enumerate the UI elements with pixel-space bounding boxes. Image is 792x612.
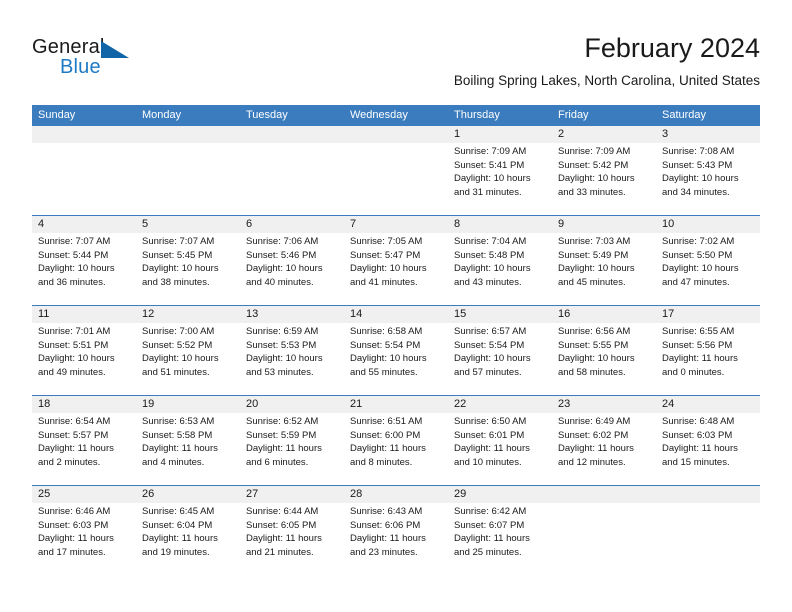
daylight-text: Daylight: 11 hours [662,352,754,366]
day-number: 1 [448,126,552,143]
daylight-text: Daylight: 10 hours [662,262,754,276]
day-number: 17 [656,306,760,323]
day-number [240,126,344,143]
daylight-text: Daylight: 10 hours [142,352,234,366]
daylight-text: Daylight: 10 hours [662,172,754,186]
daylight-text: Daylight: 11 hours [142,442,234,456]
sunset-text: Sunset: 5:56 PM [662,339,754,353]
day-number: 28 [344,486,448,503]
day-cell: Sunrise: 6:46 AM Sunset: 6:03 PM Dayligh… [32,503,136,575]
sunset-text: Sunset: 6:03 PM [38,519,130,533]
sunset-text: Sunset: 5:57 PM [38,429,130,443]
day-cell: Sunrise: 7:07 AM Sunset: 5:44 PM Dayligh… [32,233,136,305]
calendar-week-row: 4 5 6 7 8 9 10 Sunrise: 7:07 AM Sunset: … [32,215,760,305]
day-cell: Sunrise: 6:44 AM Sunset: 6:05 PM Dayligh… [240,503,344,575]
sunset-text: Sunset: 5:49 PM [558,249,650,263]
sunrise-text: Sunrise: 6:42 AM [454,505,546,519]
day-number: 25 [32,486,136,503]
sunset-text: Sunset: 5:54 PM [350,339,442,353]
day-number [552,486,656,503]
daylight-text-cont: and 25 minutes. [454,546,546,560]
sunset-text: Sunset: 5:45 PM [142,249,234,263]
weekday-header-friday: Friday [552,105,656,125]
daylight-text: Daylight: 10 hours [142,262,234,276]
day-number: 27 [240,486,344,503]
daylight-text-cont: and 0 minutes. [662,366,754,380]
page-title: February 2024 [454,32,760,64]
sunrise-text: Sunrise: 7:08 AM [662,145,754,159]
sunrise-text: Sunrise: 6:44 AM [246,505,338,519]
sunrise-text: Sunrise: 7:04 AM [454,235,546,249]
sunrise-text: Sunrise: 7:05 AM [350,235,442,249]
sunset-text: Sunset: 6:04 PM [142,519,234,533]
sunset-text: Sunset: 5:44 PM [38,249,130,263]
day-cell: Sunrise: 6:45 AM Sunset: 6:04 PM Dayligh… [136,503,240,575]
calendar-week-row: 25 26 27 28 29 Sunrise: 6:46 AM Sunset: … [32,485,760,575]
weekday-header-tuesday: Tuesday [240,105,344,125]
daylight-text-cont: and 19 minutes. [142,546,234,560]
day-cell: Sunrise: 6:58 AM Sunset: 5:54 PM Dayligh… [344,323,448,395]
daylight-text-cont: and 38 minutes. [142,276,234,290]
daylight-text: Daylight: 10 hours [350,352,442,366]
daylight-text: Daylight: 10 hours [454,172,546,186]
daylight-text: Daylight: 10 hours [558,262,650,276]
day-number: 23 [552,396,656,413]
day-number: 5 [136,216,240,233]
sunrise-text: Sunrise: 6:50 AM [454,415,546,429]
sunrise-text: Sunrise: 6:58 AM [350,325,442,339]
day-cell: Sunrise: 7:01 AM Sunset: 5:51 PM Dayligh… [32,323,136,395]
day-number: 12 [136,306,240,323]
day-cell: Sunrise: 7:06 AM Sunset: 5:46 PM Dayligh… [240,233,344,305]
week-day-cells: Sunrise: 7:09 AM Sunset: 5:41 PM Dayligh… [32,143,760,215]
daylight-text: Daylight: 11 hours [246,532,338,546]
day-number: 29 [448,486,552,503]
sunset-text: Sunset: 5:42 PM [558,159,650,173]
daylight-text: Daylight: 11 hours [350,532,442,546]
day-number: 19 [136,396,240,413]
day-number: 4 [32,216,136,233]
daylight-text-cont: and 15 minutes. [662,456,754,470]
day-cell: Sunrise: 7:03 AM Sunset: 5:49 PM Dayligh… [552,233,656,305]
daylight-text-cont: and 23 minutes. [350,546,442,560]
daylight-text: Daylight: 11 hours [558,442,650,456]
week-date-numbers: 1 2 3 [32,126,760,143]
daylight-text-cont: and 12 minutes. [558,456,650,470]
sunrise-text: Sunrise: 6:45 AM [142,505,234,519]
sunset-text: Sunset: 5:48 PM [454,249,546,263]
week-date-numbers: 18 19 20 21 22 23 24 [32,396,760,413]
logo-text-blue: Blue [60,56,101,79]
day-number: 13 [240,306,344,323]
sunrise-text: Sunrise: 7:00 AM [142,325,234,339]
daylight-text: Daylight: 10 hours [246,262,338,276]
week-day-cells: Sunrise: 6:46 AM Sunset: 6:03 PM Dayligh… [32,503,760,575]
sunrise-text: Sunrise: 6:59 AM [246,325,338,339]
sunrise-text: Sunrise: 7:06 AM [246,235,338,249]
weekday-header-saturday: Saturday [656,105,760,125]
daylight-text-cont: and 31 minutes. [454,186,546,200]
daylight-text-cont: and 6 minutes. [246,456,338,470]
day-cell: Sunrise: 7:04 AM Sunset: 5:48 PM Dayligh… [448,233,552,305]
day-cell: Sunrise: 7:08 AM Sunset: 5:43 PM Dayligh… [656,143,760,215]
sunrise-text: Sunrise: 7:07 AM [142,235,234,249]
day-number [344,126,448,143]
day-number: 2 [552,126,656,143]
sunrise-text: Sunrise: 7:03 AM [558,235,650,249]
daylight-text-cont: and 57 minutes. [454,366,546,380]
sunset-text: Sunset: 5:58 PM [142,429,234,443]
day-number: 14 [344,306,448,323]
daylight-text-cont: and 36 minutes. [38,276,130,290]
day-cell: Sunrise: 6:54 AM Sunset: 5:57 PM Dayligh… [32,413,136,485]
day-cell: Sunrise: 6:51 AM Sunset: 6:00 PM Dayligh… [344,413,448,485]
general-blue-logo[interactable]: General Blue [32,36,162,84]
sunrise-text: Sunrise: 6:53 AM [142,415,234,429]
daylight-text-cont: and 33 minutes. [558,186,650,200]
day-cell: Sunrise: 6:55 AM Sunset: 5:56 PM Dayligh… [656,323,760,395]
sunrise-text: Sunrise: 6:56 AM [558,325,650,339]
day-number: 20 [240,396,344,413]
sunrise-text: Sunrise: 6:46 AM [38,505,130,519]
sunset-text: Sunset: 5:52 PM [142,339,234,353]
week-date-numbers: 4 5 6 7 8 9 10 [32,216,760,233]
logo-triangle-icon [101,41,129,58]
day-cell: Sunrise: 6:48 AM Sunset: 6:03 PM Dayligh… [656,413,760,485]
daylight-text-cont: and 34 minutes. [662,186,754,200]
daylight-text-cont: and 51 minutes. [142,366,234,380]
weekday-header-thursday: Thursday [448,105,552,125]
day-cell: Sunrise: 7:05 AM Sunset: 5:47 PM Dayligh… [344,233,448,305]
day-cell: Sunrise: 6:59 AM Sunset: 5:53 PM Dayligh… [240,323,344,395]
day-number: 3 [656,126,760,143]
sunset-text: Sunset: 6:05 PM [246,519,338,533]
sunrise-text: Sunrise: 7:09 AM [558,145,650,159]
page-subtitle: Boiling Spring Lakes, North Carolina, Un… [454,72,760,89]
sunrise-text: Sunrise: 6:57 AM [454,325,546,339]
day-cell: Sunrise: 7:09 AM Sunset: 5:41 PM Dayligh… [448,143,552,215]
week-day-cells: Sunrise: 6:54 AM Sunset: 5:57 PM Dayligh… [32,413,760,485]
sunrise-text: Sunrise: 7:07 AM [38,235,130,249]
daylight-text: Daylight: 11 hours [142,532,234,546]
daylight-text: Daylight: 10 hours [38,262,130,276]
sunset-text: Sunset: 6:02 PM [558,429,650,443]
sunset-text: Sunset: 6:06 PM [350,519,442,533]
day-cell: Sunrise: 6:49 AM Sunset: 6:02 PM Dayligh… [552,413,656,485]
sunset-text: Sunset: 5:46 PM [246,249,338,263]
daylight-text: Daylight: 11 hours [246,442,338,456]
daylight-text: Daylight: 10 hours [454,352,546,366]
daylight-text: Daylight: 11 hours [454,442,546,456]
daylight-text: Daylight: 10 hours [246,352,338,366]
sunset-text: Sunset: 5:53 PM [246,339,338,353]
week-day-cells: Sunrise: 7:07 AM Sunset: 5:44 PM Dayligh… [32,233,760,305]
day-number [136,126,240,143]
sunset-text: Sunset: 5:51 PM [38,339,130,353]
day-cell: Sunrise: 7:07 AM Sunset: 5:45 PM Dayligh… [136,233,240,305]
daylight-text: Daylight: 10 hours [454,262,546,276]
day-number: 21 [344,396,448,413]
sunrise-text: Sunrise: 7:09 AM [454,145,546,159]
sunset-text: Sunset: 5:43 PM [662,159,754,173]
weekday-header-sunday: Sunday [32,105,136,125]
weekday-header-row: Sunday Monday Tuesday Wednesday Thursday… [32,105,760,125]
day-number: 11 [32,306,136,323]
daylight-text-cont: and 17 minutes. [38,546,130,560]
daylight-text: Daylight: 11 hours [454,532,546,546]
day-cell: Sunrise: 6:53 AM Sunset: 5:58 PM Dayligh… [136,413,240,485]
sunset-text: Sunset: 5:55 PM [558,339,650,353]
day-cell: Sunrise: 6:52 AM Sunset: 5:59 PM Dayligh… [240,413,344,485]
sunrise-text: Sunrise: 6:52 AM [246,415,338,429]
calendar-grid: Sunday Monday Tuesday Wednesday Thursday… [32,105,760,575]
day-number: 7 [344,216,448,233]
day-number: 16 [552,306,656,323]
day-number: 24 [656,396,760,413]
day-number: 9 [552,216,656,233]
daylight-text: Daylight: 11 hours [662,442,754,456]
daylight-text-cont: and 45 minutes. [558,276,650,290]
day-number [656,486,760,503]
page-header: General Blue February 2024 Boiling Sprin… [32,32,760,94]
day-cell: Sunrise: 6:42 AM Sunset: 6:07 PM Dayligh… [448,503,552,575]
daylight-text: Daylight: 10 hours [350,262,442,276]
day-cell: Sunrise: 7:00 AM Sunset: 5:52 PM Dayligh… [136,323,240,395]
day-number: 26 [136,486,240,503]
calendar-week-row: 11 12 13 14 15 16 17 Sunrise: 7:01 AM Su… [32,305,760,395]
sunset-text: Sunset: 5:41 PM [454,159,546,173]
week-date-numbers: 11 12 13 14 15 16 17 [32,306,760,323]
day-number [32,126,136,143]
sunrise-text: Sunrise: 6:51 AM [350,415,442,429]
daylight-text-cont: and 40 minutes. [246,276,338,290]
sunrise-text: Sunrise: 6:55 AM [662,325,754,339]
day-number: 10 [656,216,760,233]
daylight-text-cont: and 55 minutes. [350,366,442,380]
daylight-text-cont: and 49 minutes. [38,366,130,380]
sunrise-text: Sunrise: 7:01 AM [38,325,130,339]
daylight-text-cont: and 8 minutes. [350,456,442,470]
sunrise-text: Sunrise: 6:54 AM [38,415,130,429]
daylight-text-cont: and 2 minutes. [38,456,130,470]
daylight-text-cont: and 4 minutes. [142,456,234,470]
sunset-text: Sunset: 5:50 PM [662,249,754,263]
sunrise-text: Sunrise: 6:48 AM [662,415,754,429]
sunset-text: Sunset: 5:54 PM [454,339,546,353]
daylight-text: Daylight: 10 hours [558,352,650,366]
daylight-text: Daylight: 10 hours [38,352,130,366]
weekday-header-wednesday: Wednesday [344,105,448,125]
day-cell: Sunrise: 6:56 AM Sunset: 5:55 PM Dayligh… [552,323,656,395]
day-number: 6 [240,216,344,233]
sunrise-text: Sunrise: 6:43 AM [350,505,442,519]
calendar-page: General Blue February 2024 Boiling Sprin… [0,0,792,612]
daylight-text: Daylight: 11 hours [38,442,130,456]
day-number: 15 [448,306,552,323]
daylight-text-cont: and 53 minutes. [246,366,338,380]
daylight-text-cont: and 41 minutes. [350,276,442,290]
daylight-text-cont: and 58 minutes. [558,366,650,380]
title-block: February 2024 Boiling Spring Lakes, Nort… [454,32,760,89]
daylight-text-cont: and 43 minutes. [454,276,546,290]
weekday-header-monday: Monday [136,105,240,125]
day-number: 18 [32,396,136,413]
sunrise-text: Sunrise: 7:02 AM [662,235,754,249]
calendar-week-row: 1 2 3 Sunrise: 7:09 AM Sunset: 5:41 PM D… [32,125,760,215]
sunset-text: Sunset: 6:01 PM [454,429,546,443]
daylight-text-cont: and 21 minutes. [246,546,338,560]
week-date-numbers: 25 26 27 28 29 [32,486,760,503]
week-day-cells: Sunrise: 7:01 AM Sunset: 5:51 PM Dayligh… [32,323,760,395]
sunrise-text: Sunrise: 6:49 AM [558,415,650,429]
day-cell: Sunrise: 7:02 AM Sunset: 5:50 PM Dayligh… [656,233,760,305]
daylight-text: Daylight: 11 hours [38,532,130,546]
day-cell: Sunrise: 6:57 AM Sunset: 5:54 PM Dayligh… [448,323,552,395]
daylight-text: Daylight: 10 hours [558,172,650,186]
day-number: 22 [448,396,552,413]
calendar-week-row: 18 19 20 21 22 23 24 Sunrise: 6:54 AM Su… [32,395,760,485]
daylight-text-cont: and 47 minutes. [662,276,754,290]
daylight-text-cont: and 10 minutes. [454,456,546,470]
sunset-text: Sunset: 5:59 PM [246,429,338,443]
sunset-text: Sunset: 6:07 PM [454,519,546,533]
sunset-text: Sunset: 6:03 PM [662,429,754,443]
day-cell: Sunrise: 7:09 AM Sunset: 5:42 PM Dayligh… [552,143,656,215]
sunset-text: Sunset: 6:00 PM [350,429,442,443]
daylight-text: Daylight: 11 hours [350,442,442,456]
day-number: 8 [448,216,552,233]
day-cell: Sunrise: 6:50 AM Sunset: 6:01 PM Dayligh… [448,413,552,485]
sunset-text: Sunset: 5:47 PM [350,249,442,263]
day-cell: Sunrise: 6:43 AM Sunset: 6:06 PM Dayligh… [344,503,448,575]
